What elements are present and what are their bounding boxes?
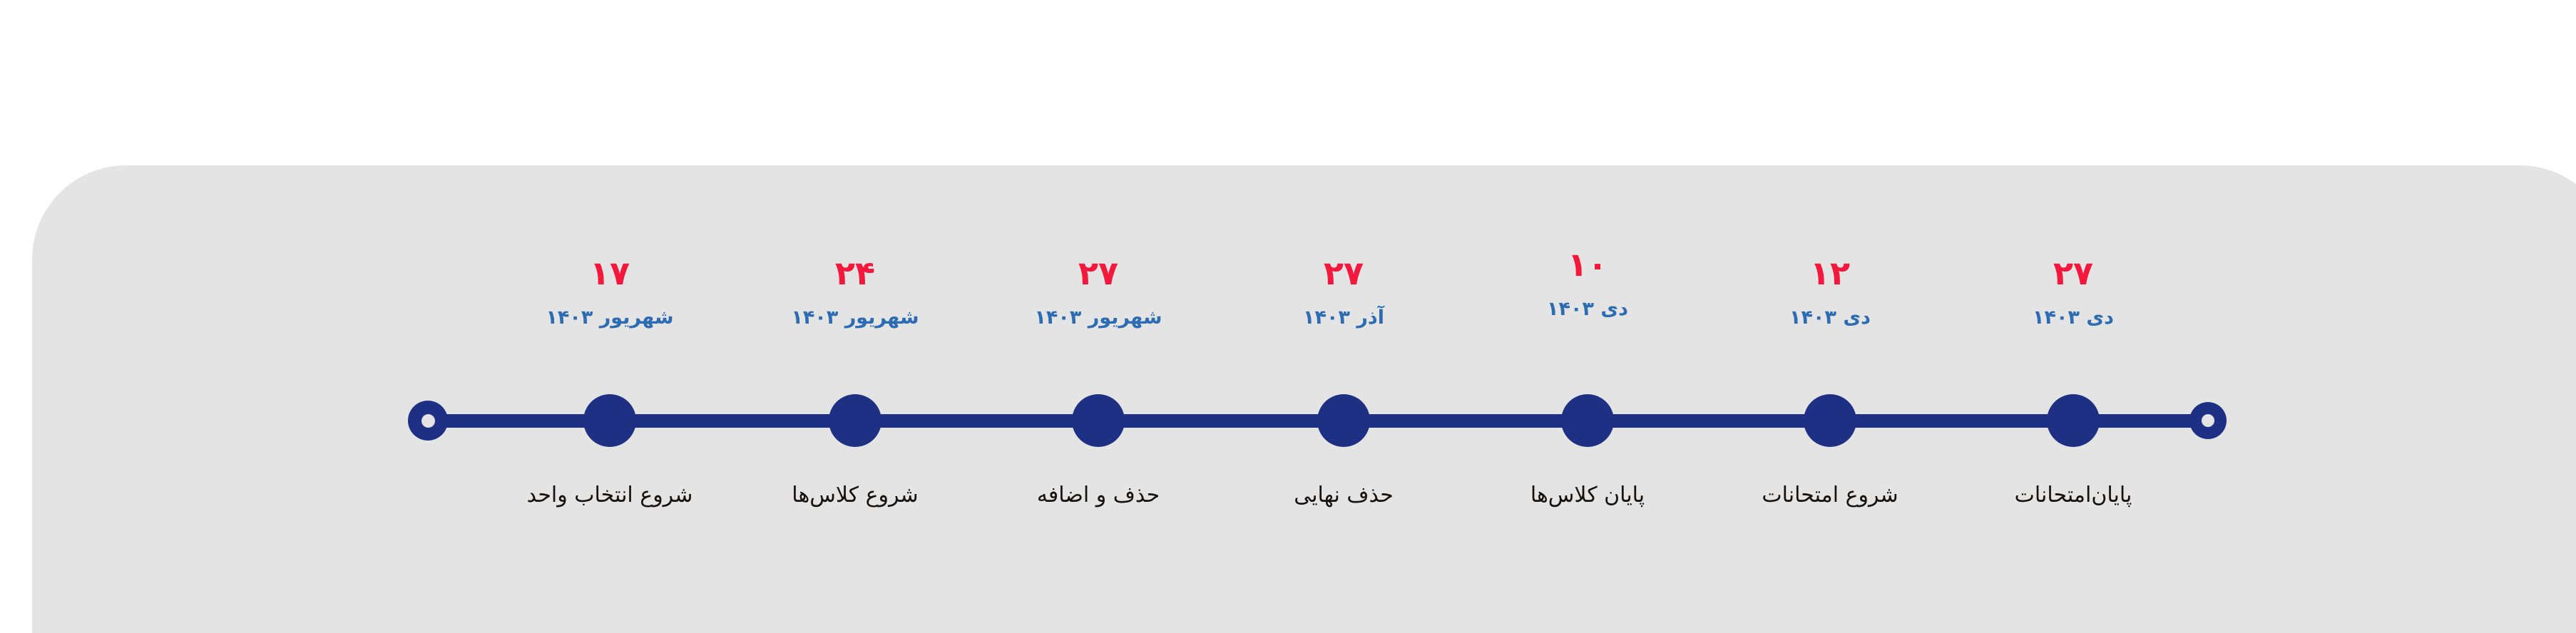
- timeline-start-endpoint-icon: [408, 401, 448, 441]
- milestone-day: ۲۷: [1923, 257, 2223, 289]
- milestone-month-year: دی ۱۴۰۳: [1923, 308, 2223, 327]
- timeline-milestone[interactable]: ۲۷ دی ۱۴۰۳ پایان‌امتحانات: [1923, 0, 2223, 633]
- academic-calendar-timeline: ۱۷ شهریور ۱۴۰۳ شروع انتخاب واحد ۲۴ شهریو…: [0, 0, 2576, 633]
- milestone-node-icon[interactable]: [2047, 394, 2100, 447]
- timeline-screenshot: ۱۷ شهریور ۱۴۰۳ شروع انتخاب واحد ۲۴ شهریو…: [0, 0, 2576, 633]
- milestone-date: ۲۷ دی ۱۴۰۳: [1923, 257, 2223, 327]
- milestone-node-icon[interactable]: [583, 394, 636, 447]
- milestone-node-icon[interactable]: [1804, 394, 1856, 447]
- milestone-node-icon[interactable]: [829, 394, 881, 447]
- milestone-node-icon[interactable]: [1317, 394, 1370, 447]
- milestone-node-icon[interactable]: [1561, 394, 1614, 447]
- milestone-label: پایان‌امتحانات: [1923, 482, 2223, 509]
- milestone-node-icon[interactable]: [1072, 394, 1125, 447]
- endpoint-hole: [421, 414, 435, 428]
